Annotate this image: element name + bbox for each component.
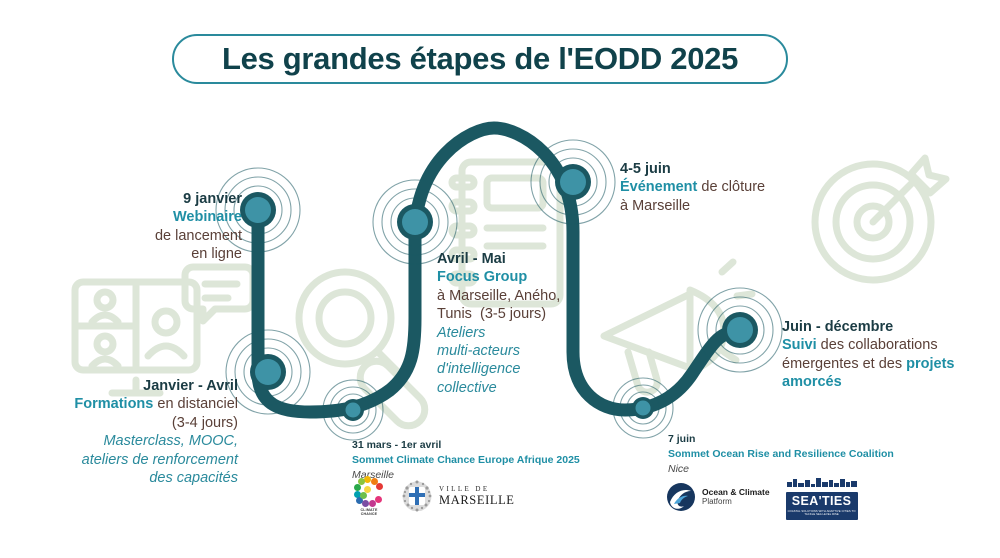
logo-row-marseille: CLIMATE CHANCE xyxy=(350,476,515,517)
milestone-evenement: 4-5 juin Événement de clôture à Marseill… xyxy=(620,160,820,215)
milestone-line3: en ligne xyxy=(94,245,242,263)
milestone-date: Avril - Mai xyxy=(437,250,597,268)
milestone-italic-1: Ateliers xyxy=(437,324,597,342)
milestone-duration: (3-5 jours) xyxy=(480,306,546,322)
milestone-line4: amorcés xyxy=(782,373,988,391)
milestone-italic-3: d'intelligence xyxy=(437,360,597,378)
milestone-focus-group: Avril - Mai Focus Group à Marseille, Ané… xyxy=(437,250,597,397)
milestone-date: 9 janvier xyxy=(94,190,242,208)
seaties-band: SEA'TIES COASTAL SOLUTIONS WITH ADAPTIVE… xyxy=(786,492,858,520)
milestone-line3a: émergentes et des xyxy=(782,356,906,372)
seaties-subtitle: COASTAL SOLUTIONS WITH ADAPTIVE CITIES T… xyxy=(788,510,856,517)
milestone-date: Janvier - Avril xyxy=(28,377,238,395)
ocean-wave-icon xyxy=(666,482,696,512)
logo-row-nice: Ocean & Climate Platform SEA'TIES COASTA… xyxy=(666,474,858,520)
milestone-highlight: Webinaire xyxy=(173,209,242,225)
ocean-climate-platform-text: Ocean & Climate Platform xyxy=(702,487,770,507)
ville-de-marseille-text: VILLE DE MARSEILLE xyxy=(439,486,515,506)
milestone-formations: Janvier - Avril Formations en distanciel… xyxy=(28,377,238,487)
milestone-italic-2: multi-acteurs xyxy=(437,342,597,360)
marseille-crest-icon xyxy=(400,480,434,512)
side-event-date: 7 juin xyxy=(668,432,894,447)
ocean-climate-platform-logo: Ocean & Climate Platform xyxy=(666,482,770,512)
milestone-rest: en distanciel xyxy=(153,396,238,412)
milestone-italic-2: ateliers de renforcement xyxy=(28,451,238,469)
node-evenement[interactable] xyxy=(555,164,591,200)
milestone-duration: (3-4 jours) xyxy=(28,414,238,432)
milestone-webinaire: 9 janvier Webinaire de lancement en lign… xyxy=(94,190,242,264)
milestone-rest: de clôture xyxy=(697,179,765,195)
milestone-highlight: Suivi xyxy=(782,337,817,353)
node-formations[interactable] xyxy=(250,354,286,390)
ville-de-marseille-logo: VILLE DE MARSEILLE xyxy=(400,480,515,512)
milestone-date: Juin - décembre xyxy=(782,318,988,336)
node-climate-chance[interactable] xyxy=(342,399,364,421)
milestone-italic-4: collective xyxy=(437,379,597,397)
milestone-suivi: Juin - décembre Suivi des collaborations… xyxy=(782,318,988,392)
milestone-italic-3: des capacités xyxy=(28,469,238,487)
milestone-rest: des collaborations xyxy=(817,337,938,353)
milestone-line3b: projets xyxy=(906,356,954,372)
seaties-skyline-icon xyxy=(786,478,858,487)
milestone-line2: de lancement xyxy=(94,227,242,245)
node-suivi[interactable] xyxy=(722,312,758,348)
milestone-date: 4-5 juin xyxy=(620,160,820,178)
node-webinaire[interactable] xyxy=(240,192,276,228)
milestone-highlight: Événement xyxy=(620,179,697,195)
seaties-logo: SEA'TIES COASTAL SOLUTIONS WITH ADAPTIVE… xyxy=(786,474,858,520)
side-event-date: 31 mars - 1er avril xyxy=(352,438,580,453)
milestone-line3: à Marseille xyxy=(620,197,820,215)
node-focus-group[interactable] xyxy=(397,204,433,240)
side-event-name: Sommet Climate Chance Europe Afrique 202… xyxy=(352,453,580,468)
side-event-orrc: 7 juin Sommet Ocean Rise and Resilience … xyxy=(668,432,894,477)
climate-chance-label: CLIMATE CHANCE xyxy=(360,508,377,517)
milestone-place-1: à Marseille, Aného, xyxy=(437,287,597,305)
milestone-highlight: Focus Group xyxy=(437,268,597,286)
infographic-root: Les grandes étapes de l'EODD 2025 xyxy=(0,0,1000,558)
milestone-highlight: Formations xyxy=(74,396,153,412)
milestone-italic-1: Masterclass, MOOC, xyxy=(28,432,238,450)
climate-chance-logo: CLIMATE CHANCE xyxy=(350,476,388,517)
node-orrc[interactable] xyxy=(632,397,654,419)
milestone-place-2: Tunis xyxy=(437,306,472,322)
side-event-name: Sommet Ocean Rise and Resilience Coaliti… xyxy=(668,447,894,462)
seaties-name: SEA'TIES xyxy=(788,495,856,508)
climate-chance-mark xyxy=(354,476,384,506)
